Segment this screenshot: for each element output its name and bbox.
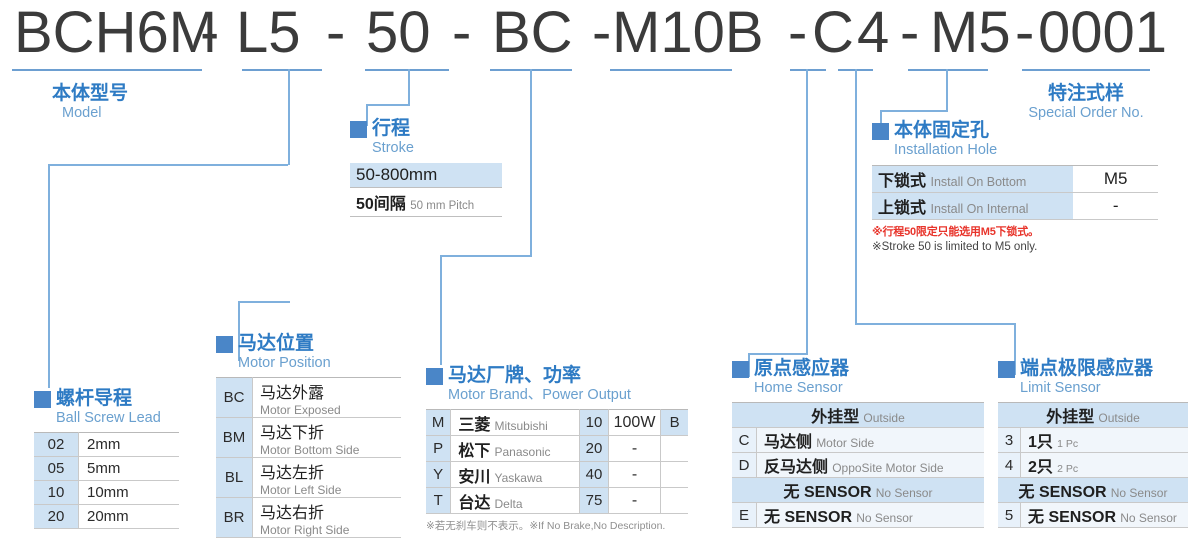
ls-group1-en: Outside [1098, 411, 1139, 425]
bsl-code-1: 05 [34, 457, 79, 481]
model-seg-homesensor: C [812, 2, 854, 64]
model-dash-2: - [326, 2, 345, 64]
model-number-headline: BCH6M - L5 - 50 - BC - M10B - C 4 - M5 -… [0, 2, 1200, 64]
mp-en-1: Motor Bottom Side [260, 443, 401, 457]
installation-hole-warning-cn: ※行程50限定只能选用M5下锁式。 [872, 223, 1158, 239]
table-row[interactable]: 下锁式 Install On Bottom M5 [872, 166, 1158, 193]
stroke-table: 50-800mm 50间隔 50 mm Pitch [350, 163, 502, 217]
ls-group1-cn: 外挂型 [1046, 409, 1094, 426]
ball-screw-lead-table: 02 2mm 05 5mm 10 10mm 20 20mm [34, 432, 179, 529]
model-seg-installhole: M5 [930, 2, 1011, 64]
bsl-value-1: 5mm [79, 457, 180, 481]
model-seg-motorpos: BC [492, 2, 573, 64]
motor-brand-footnote: ※若无刹车则不表示。※If No Brake,No Description. [426, 516, 688, 534]
ls-code-0: 3 [998, 428, 1021, 453]
block-motor-position-header: 马达位置 [216, 333, 401, 355]
home-sensor-table: 外挂型 Outside C 马达侧 Motor Side D 反马达侧 Oppo… [732, 402, 984, 528]
mp-en-2: Motor Left Side [260, 483, 401, 497]
installation-hole-warning-en: ※Stroke 50 is limited to M5 only. [872, 239, 1158, 253]
table-row[interactable]: BM 马达下折 Motor Bottom Side [216, 418, 401, 458]
mb-en-3: Delta [495, 497, 523, 511]
bullet-square-icon [216, 336, 233, 353]
bsl-value-3: 20mm [79, 505, 180, 529]
hs-code-0: C [732, 428, 757, 453]
block-motor-position-title-cn: 马达位置 [238, 333, 314, 355]
bsl-value-2: 10mm [79, 481, 180, 505]
block-limit-sensor-title-cn: 端点极限感应器 [1020, 358, 1153, 380]
mb-powercode-3: 75 [580, 488, 608, 514]
block-model-title-en: Model [62, 105, 128, 122]
mb-en-0: Mitsubishi [495, 419, 548, 433]
table-group-header: 无 SENSOR No Sensor [998, 478, 1188, 503]
hs-group1-en: Outside [863, 411, 904, 425]
mp-cn-0: 马达外露 [260, 379, 401, 403]
block-model-title-cn: 本体型号 [52, 83, 128, 105]
block-motor-brand-title-en: Motor Brand、Power Output [448, 387, 688, 404]
ls-group2-cn: 无 SENSOR [1019, 484, 1107, 501]
mb-power-2: - [608, 462, 661, 488]
bullet-square-icon [998, 361, 1015, 378]
block-stroke-title-cn: 行程 [372, 118, 410, 140]
mb-en-1: Panasonic [495, 445, 551, 459]
mb-cn-2: 安川 [458, 469, 490, 486]
ih-row-0-en: Install On Bottom [930, 175, 1026, 189]
hs-cn-2: 无 SENSOR [764, 509, 852, 526]
hs-en-1: OppoSite Motor Side [832, 461, 943, 475]
mb-cn-3: 台达 [458, 495, 490, 512]
mp-code-1: BM [216, 418, 253, 458]
table-row[interactable]: 上锁式 Install On Internal - [872, 193, 1158, 220]
ls-group2-en: No Sensor [1111, 486, 1168, 500]
model-seg-specialorder: 0001 [1038, 2, 1167, 64]
bullet-square-icon [350, 121, 367, 138]
bullet-square-icon [34, 391, 51, 408]
table-row[interactable]: 05 5mm [34, 457, 179, 481]
mb-brake-2 [661, 462, 688, 488]
mp-cn-3: 马达右折 [260, 499, 401, 523]
block-stroke-header: 行程 [350, 118, 502, 140]
hs-cn-1: 反马达侧 [764, 459, 828, 476]
bullet-square-icon [426, 368, 443, 385]
mb-code-2: Y [426, 462, 451, 488]
block-motor-brand-title-cn: 马达厂牌、功率 [448, 365, 581, 387]
block-special-order-title-cn: 特注式样 [1022, 83, 1150, 105]
ls-code-1: 4 [998, 453, 1021, 478]
table-row[interactable]: P 松下 Panasonic 20 - [426, 436, 688, 462]
hs-code-2: E [732, 503, 757, 528]
ls-code-2: 5 [998, 503, 1021, 528]
model-seg-body: BCH6M [14, 2, 217, 64]
underline-homesensor [790, 69, 826, 71]
ls-cn-1: 2只 [1028, 459, 1053, 476]
underline-model [12, 69, 202, 71]
mp-code-2: BL [216, 458, 253, 498]
block-motor-brand-header: 马达厂牌、功率 [426, 365, 688, 387]
limit-sensor-table: 外挂型 Outside 3 1只 1 Pc 4 2只 2 Pc [998, 402, 1188, 528]
table-row[interactable]: 4 2只 2 Pc [998, 453, 1188, 478]
model-seg-motorbrand: M10B [612, 2, 764, 64]
underline-stroke [365, 69, 449, 71]
block-stroke: 行程 Stroke 50-800mm 50间隔 50 mm Pitch [350, 118, 502, 217]
table-row[interactable]: E 无 SENSOR No Sensor [732, 503, 984, 528]
table-row[interactable]: Y 安川 Yaskawa 40 - [426, 462, 688, 488]
mb-en-2: Yaskawa [495, 471, 543, 485]
underline-specialorder [1022, 69, 1150, 71]
stroke-pitch-en: 50 mm Pitch [410, 200, 474, 212]
underline-lead [242, 69, 322, 71]
block-motor-position: 马达位置 Motor Position BC 马达外露 Motor Expose… [216, 333, 401, 538]
model-dash-4: - [592, 2, 611, 64]
motor-brand-table: M 三菱 Mitsubishi 10 100W B P 松下 Panasonic… [426, 409, 688, 514]
model-dash-7: - [1015, 2, 1034, 64]
table-row[interactable]: C 马达侧 Motor Side [732, 428, 984, 453]
block-home-sensor: 原点感应器 Home Sensor 外挂型 Outside C 马达侧 Moto… [732, 358, 984, 528]
motor-brand-footnote-cn: ※若无刹车则不表示。 [426, 520, 529, 532]
table-row[interactable]: 10 10mm [34, 481, 179, 505]
mb-code-0: M [426, 410, 451, 436]
mp-en-0: Motor Exposed [260, 403, 401, 417]
table-group-header: 外挂型 Outside [732, 403, 984, 428]
stroke-pitch-cn: 50间隔 [356, 196, 406, 213]
block-motor-position-title-en: Motor Position [238, 355, 401, 372]
model-dash-6: - [900, 2, 919, 64]
table-row[interactable]: T 台达 Delta 75 - [426, 488, 688, 514]
ls-en-0: 1 Pc [1057, 438, 1078, 450]
table-row[interactable]: M 三菱 Mitsubishi 10 100W B [426, 410, 688, 436]
hs-group2-cn: 无 SENSOR [784, 484, 872, 501]
bullet-square-icon [732, 361, 749, 378]
ih-row-1-en: Install On Internal [930, 202, 1028, 216]
bsl-code-0: 02 [34, 433, 79, 457]
motor-position-table: BC 马达外露 Motor Exposed BM 马达下折 Motor Bott… [216, 377, 401, 538]
block-installation-hole-title-cn: 本体固定孔 [894, 120, 989, 142]
ls-en-1: 2 Pc [1057, 463, 1078, 475]
hs-cn-0: 马达侧 [764, 434, 812, 451]
mb-powercode-1: 20 [580, 436, 608, 462]
table-row[interactable]: 20 20mm [34, 505, 179, 529]
table-row[interactable]: 02 2mm [34, 433, 179, 457]
ls-cn-2: 无 SENSOR [1028, 509, 1116, 526]
underline-installhole [908, 69, 988, 71]
model-dash-5: - [788, 2, 807, 64]
model-seg-lead: L5 [236, 2, 301, 64]
mb-powercode-0: 10 [580, 410, 608, 436]
bullet-square-icon [872, 123, 889, 140]
mp-cn-1: 马达下折 [260, 419, 401, 443]
hs-en-0: Motor Side [816, 436, 874, 450]
block-ball-screw-lead-header: 螺杆导程 [34, 388, 179, 410]
mb-brake-0: B [661, 410, 688, 436]
mb-power-1: - [608, 436, 661, 462]
block-special-order: 特注式样 Special Order No. [1022, 83, 1150, 122]
block-installation-hole-header: 本体固定孔 [872, 120, 1158, 142]
mb-brake-3 [661, 488, 688, 514]
table-row[interactable]: 5 无 SENSOR No Sensor [998, 503, 1188, 528]
mb-power-0: 100W [608, 410, 661, 436]
mp-code-3: BR [216, 498, 253, 538]
underline-motorbrand [610, 69, 732, 71]
block-installation-hole: 本体固定孔 Installation Hole 下锁式 Install On B… [872, 120, 1158, 253]
mb-cn-1: 松下 [458, 443, 490, 460]
ih-row-0-value: M5 [1073, 166, 1158, 193]
bsl-value-0: 2mm [79, 433, 180, 457]
block-ball-screw-lead: 螺杆导程 Ball Screw Lead 02 2mm 05 5mm 10 10… [34, 388, 179, 529]
hs-en-2: No Sensor [856, 511, 913, 525]
block-limit-sensor-header: 端点极限感应器 [998, 358, 1188, 380]
mb-power-3: - [608, 488, 661, 514]
block-stroke-title-en: Stroke [372, 140, 502, 157]
block-home-sensor-title-cn: 原点感应器 [754, 358, 849, 380]
block-installation-hole-title-en: Installation Hole [894, 142, 1158, 159]
block-motor-brand: 马达厂牌、功率 Motor Brand、Power Output M 三菱 Mi… [426, 365, 688, 534]
mp-code-0: BC [216, 378, 253, 418]
hs-group2-en: No Sensor [876, 486, 933, 500]
mp-en-3: Motor Right Side [260, 523, 401, 537]
block-ball-screw-lead-title-cn: 螺杆导程 [56, 388, 132, 410]
model-seg-limitsensor: 4 [857, 2, 889, 64]
mb-powercode-2: 40 [580, 462, 608, 488]
table-row[interactable]: 3 1只 1 Pc [998, 428, 1188, 453]
mb-cn-0: 三菱 [458, 417, 490, 434]
motor-brand-footnote-en: ※If No Brake,No Description. [529, 520, 665, 532]
installation-hole-table: 下锁式 Install On Bottom M5 上锁式 Install On … [872, 165, 1158, 220]
table-row[interactable]: 50间隔 50 mm Pitch [350, 188, 502, 217]
stroke-range-value: 50-800mm [350, 163, 502, 188]
mb-brake-1 [661, 436, 688, 462]
bsl-code-2: 10 [34, 481, 79, 505]
block-home-sensor-title-en: Home Sensor [754, 380, 984, 397]
table-group-header: 无 SENSOR No Sensor [732, 478, 984, 503]
table-row[interactable]: BL 马达左折 Motor Left Side [216, 458, 401, 498]
table-row[interactable]: BR 马达右折 Motor Right Side [216, 498, 401, 538]
table-row[interactable]: BC 马达外露 Motor Exposed [216, 378, 401, 418]
model-seg-stroke: 50 [366, 2, 431, 64]
table-row[interactable]: D 反马达侧 OppoSite Motor Side [732, 453, 984, 478]
model-dash-3: - [452, 2, 471, 64]
model-dash-1: - [200, 2, 219, 64]
mb-code-3: T [426, 488, 451, 514]
hs-code-1: D [732, 453, 757, 478]
table-group-header: 外挂型 Outside [998, 403, 1188, 428]
ih-row-0-cn: 下锁式 [878, 173, 926, 190]
mp-cn-2: 马达左折 [260, 459, 401, 483]
ih-row-1-value: - [1073, 193, 1158, 220]
hs-group1-cn: 外挂型 [811, 409, 859, 426]
ls-en-2: No Sensor [1120, 511, 1177, 525]
block-ball-screw-lead-title-en: Ball Screw Lead [56, 410, 179, 427]
block-home-sensor-header: 原点感应器 [732, 358, 984, 380]
block-model: 本体型号 Model [52, 83, 128, 122]
ls-cn-0: 1只 [1028, 434, 1053, 451]
block-limit-sensor: 端点极限感应器 Limit Sensor 外挂型 Outside 3 1只 1 … [998, 358, 1188, 528]
table-row[interactable]: 50-800mm [350, 163, 502, 188]
mb-code-1: P [426, 436, 451, 462]
bsl-code-3: 20 [34, 505, 79, 529]
block-limit-sensor-title-en: Limit Sensor [1020, 380, 1188, 397]
ih-row-1-cn: 上锁式 [878, 200, 926, 217]
